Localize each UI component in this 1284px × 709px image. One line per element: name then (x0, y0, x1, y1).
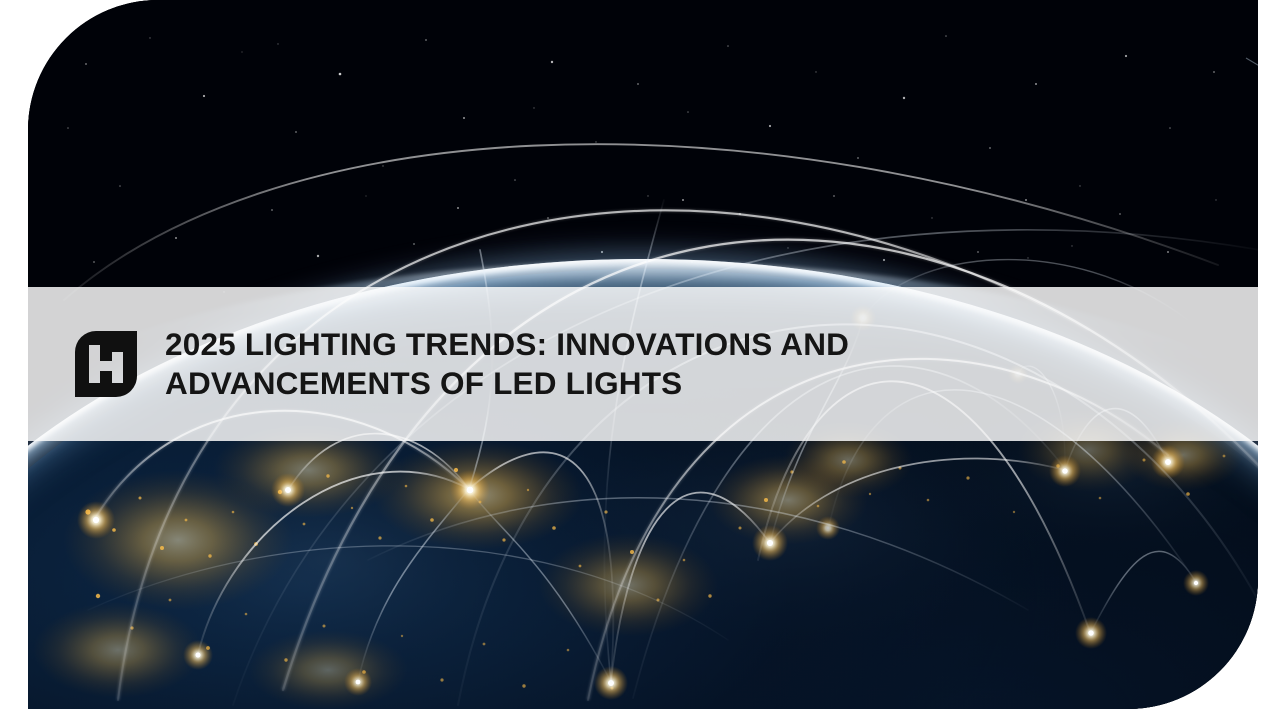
page-title-line-1: 2025 LIGHTING TRENDS: INNOVATIONS AND (165, 326, 849, 362)
h-monogram-icon (75, 331, 137, 397)
hero-banner-card: 2025 LIGHTING TRENDS: INNOVATIONS AND AD… (28, 0, 1258, 709)
page-title: 2025 LIGHTING TRENDS: INNOVATIONS AND AD… (165, 325, 849, 403)
title-banner: 2025 LIGHTING TRENDS: INNOVATIONS AND AD… (28, 287, 1258, 441)
page-title-line-2: ADVANCEMENTS OF LED LIGHTS (165, 365, 682, 401)
brand-logo[interactable] (75, 331, 137, 397)
screenshot-root: 2025 LIGHTING TRENDS: INNOVATIONS AND AD… (0, 0, 1284, 709)
